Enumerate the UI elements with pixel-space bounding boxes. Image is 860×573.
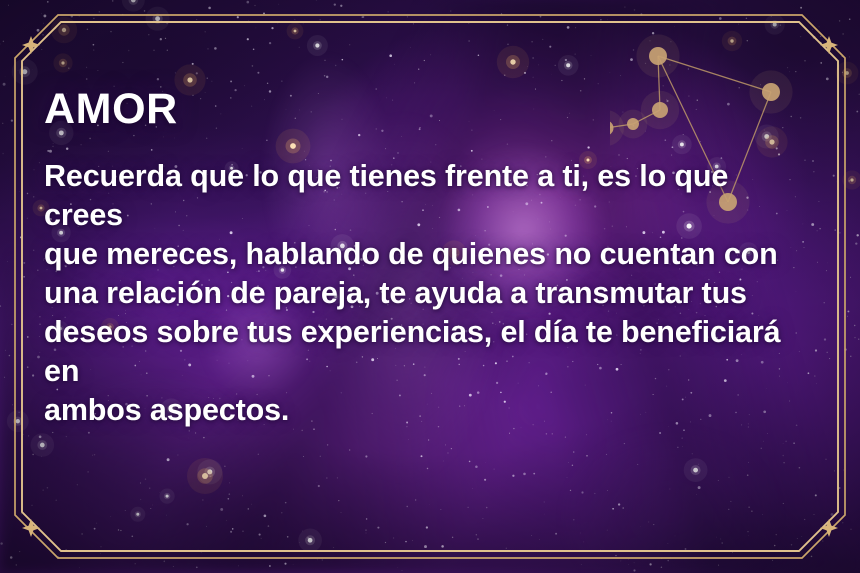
sparkle-icon-top-left [22, 36, 40, 54]
card-body-text: Recuerda que lo que tienes frente a ti, … [44, 157, 806, 430]
constellation-node [649, 47, 667, 65]
sparkle-icon-top-right [820, 36, 838, 54]
card-body-line: ambos aspectos. [44, 391, 806, 430]
horoscope-card: AMOR Recuerda que lo que tienes frente a… [0, 0, 860, 573]
page-title: AMOR [44, 88, 814, 131]
constellation-edge [658, 56, 771, 92]
sparkle-icon-bottom-right [820, 519, 838, 537]
card-content: AMOR Recuerda que lo que tienes frente a… [44, 88, 814, 430]
card-body-line: una relación de pareja, te ayuda a trans… [44, 274, 806, 313]
constellation-node-glow [636, 34, 679, 77]
card-body-line: deseos sobre tus experiencias, el día te… [44, 313, 806, 391]
card-body-line: que mereces, hablando de quienes no cuen… [44, 235, 806, 274]
card-body-line: Recuerda que lo que tienes frente a ti, … [44, 157, 806, 235]
sparkle-icon-bottom-left [22, 519, 40, 537]
